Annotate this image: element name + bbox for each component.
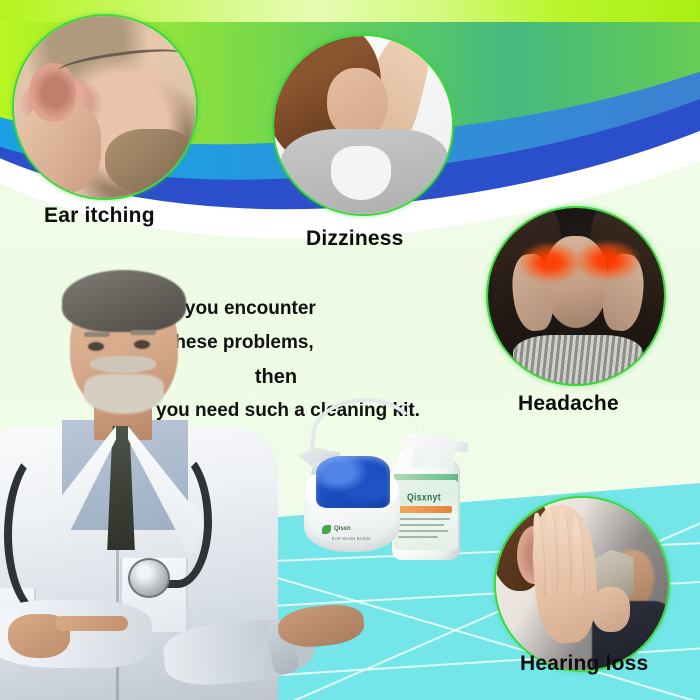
- doctor-brow-right: [130, 330, 156, 335]
- woman-holding-head-photo: [274, 36, 452, 214]
- symptom-label-dizziness: Dizziness: [306, 227, 404, 251]
- symptom-label-headache: Headache: [518, 392, 619, 416]
- symptom-circle-ear-itching[interactable]: [12, 14, 198, 200]
- ear-cleaning-kit[interactable]: Qisxnyt Qisxn EAR WASH BASIN: [296, 400, 486, 580]
- hand-to-ear-megaphone-photo: [496, 498, 668, 670]
- leaf-icon: [322, 525, 331, 534]
- promo-poster: Ear itching Dizziness Headache: [0, 0, 700, 700]
- basin-brand-label: Qisxn: [334, 526, 351, 532]
- man-scratching-ear-photo: [14, 16, 196, 198]
- spray-nozzle: [450, 442, 468, 452]
- doctor-moustache: [90, 356, 156, 373]
- stethoscope-chestpiece: [128, 558, 170, 598]
- woman-temples-red-glow-photo: [488, 208, 664, 384]
- basin-subtitle: EAR WASH BASIN: [318, 536, 384, 542]
- symptom-circle-hearing-loss[interactable]: [494, 496, 670, 672]
- doctor-eye-right: [134, 340, 150, 349]
- symptom-circle-dizziness[interactable]: [272, 34, 454, 216]
- symptom-circle-headache[interactable]: [486, 206, 666, 386]
- blue-microfiber-towel: [316, 456, 390, 508]
- basin-brand-logo: Qisxn: [322, 524, 380, 534]
- doctor-pointing-hand: [8, 600, 118, 658]
- doctor-brow-left: [84, 332, 110, 337]
- stethoscope-tube-left: [4, 446, 86, 618]
- doctor-beard: [84, 374, 164, 414]
- bottle-brand-label: Qisxnyt: [392, 491, 456, 503]
- doctor-hair: [62, 270, 186, 332]
- spray-bottle: Qisxnyt: [392, 436, 460, 560]
- doctor-figure: [0, 270, 278, 700]
- symptom-label-ear-itching: Ear itching: [44, 204, 155, 228]
- symptom-label-hearing-loss: Hearing loss: [520, 652, 648, 676]
- doctor-eye-left: [88, 342, 104, 351]
